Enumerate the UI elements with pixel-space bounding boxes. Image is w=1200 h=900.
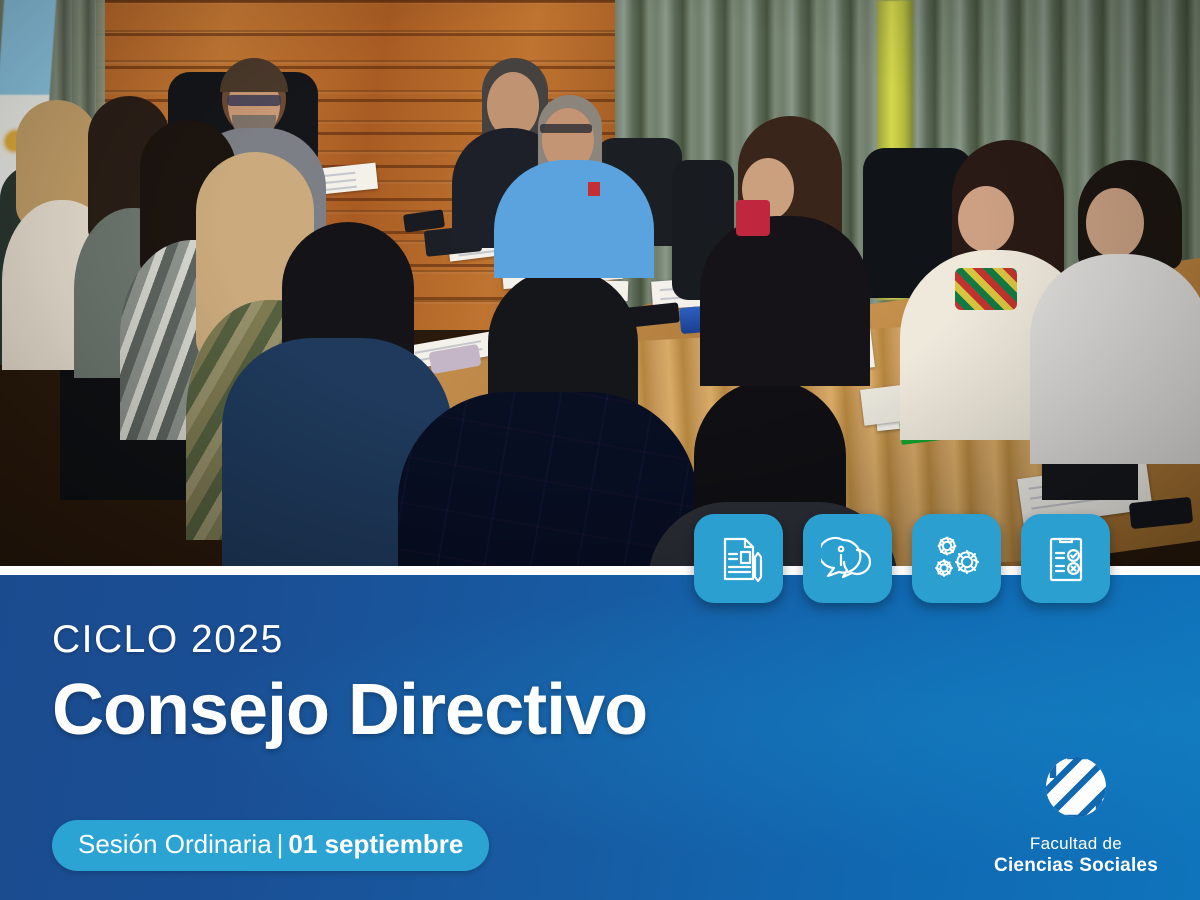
session-date: 01 septiembre xyxy=(288,829,463,859)
person-face xyxy=(958,186,1014,252)
logo-line-1: Facultad de xyxy=(976,834,1176,854)
person-torso xyxy=(398,392,698,566)
person-face xyxy=(1086,188,1144,258)
session-separator: | xyxy=(272,829,289,859)
faculty-logo: Facultad de Ciencias Sociales xyxy=(976,752,1176,879)
clipboard-check-icon[interactable] xyxy=(1021,514,1110,603)
poster-root: CICLO 2025 Consejo Directivo Sesión Ordi… xyxy=(0,0,1200,900)
person-glasses xyxy=(227,95,281,106)
logo-line-2: Ciencias Sociales xyxy=(976,854,1176,879)
facultad-logo-mark xyxy=(1041,752,1111,822)
session-badge: Sesión Ordinaria|01 septiembre xyxy=(52,820,489,871)
icon-badge-row xyxy=(694,514,1110,603)
person-torso xyxy=(494,160,654,278)
document-pen-icon[interactable] xyxy=(694,514,783,603)
page-title: Consejo Directivo xyxy=(52,673,647,749)
meeting-photo xyxy=(0,0,1200,566)
scarf xyxy=(736,200,770,236)
gears-icon[interactable] xyxy=(912,514,1001,603)
session-type: Sesión Ordinaria xyxy=(78,829,272,859)
person-glasses xyxy=(540,124,592,133)
eyebrow-text: CICLO 2025 xyxy=(52,620,647,659)
person-torso xyxy=(1030,254,1200,464)
person-torso xyxy=(700,216,870,386)
headline-block: CICLO 2025 Consejo Directivo xyxy=(52,620,647,749)
info-chat-icon[interactable] xyxy=(803,514,892,603)
scarf xyxy=(955,268,1017,310)
lapel-badge xyxy=(588,182,600,196)
